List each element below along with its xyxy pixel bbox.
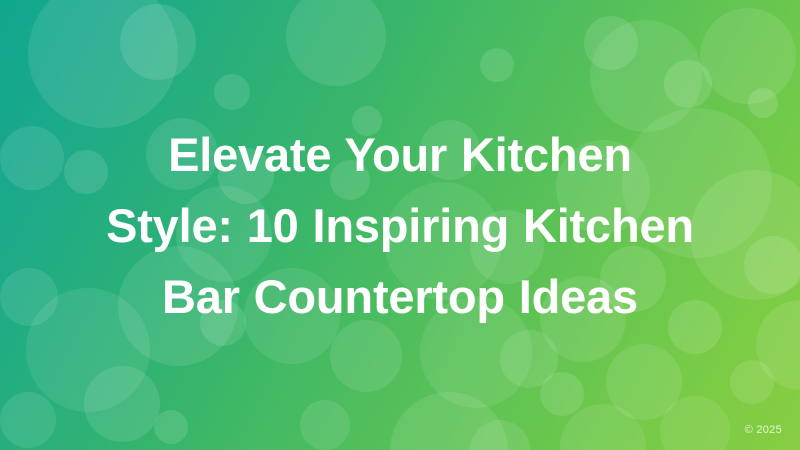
title-card: Elevate Your Kitchen Style: 10 Inspiring… bbox=[0, 0, 800, 450]
copyright-notice: © 2025 bbox=[745, 425, 782, 436]
page-title: Elevate Your Kitchen Style: 10 Inspiring… bbox=[100, 119, 700, 332]
title-block: Elevate Your Kitchen Style: 10 Inspiring… bbox=[0, 0, 800, 450]
